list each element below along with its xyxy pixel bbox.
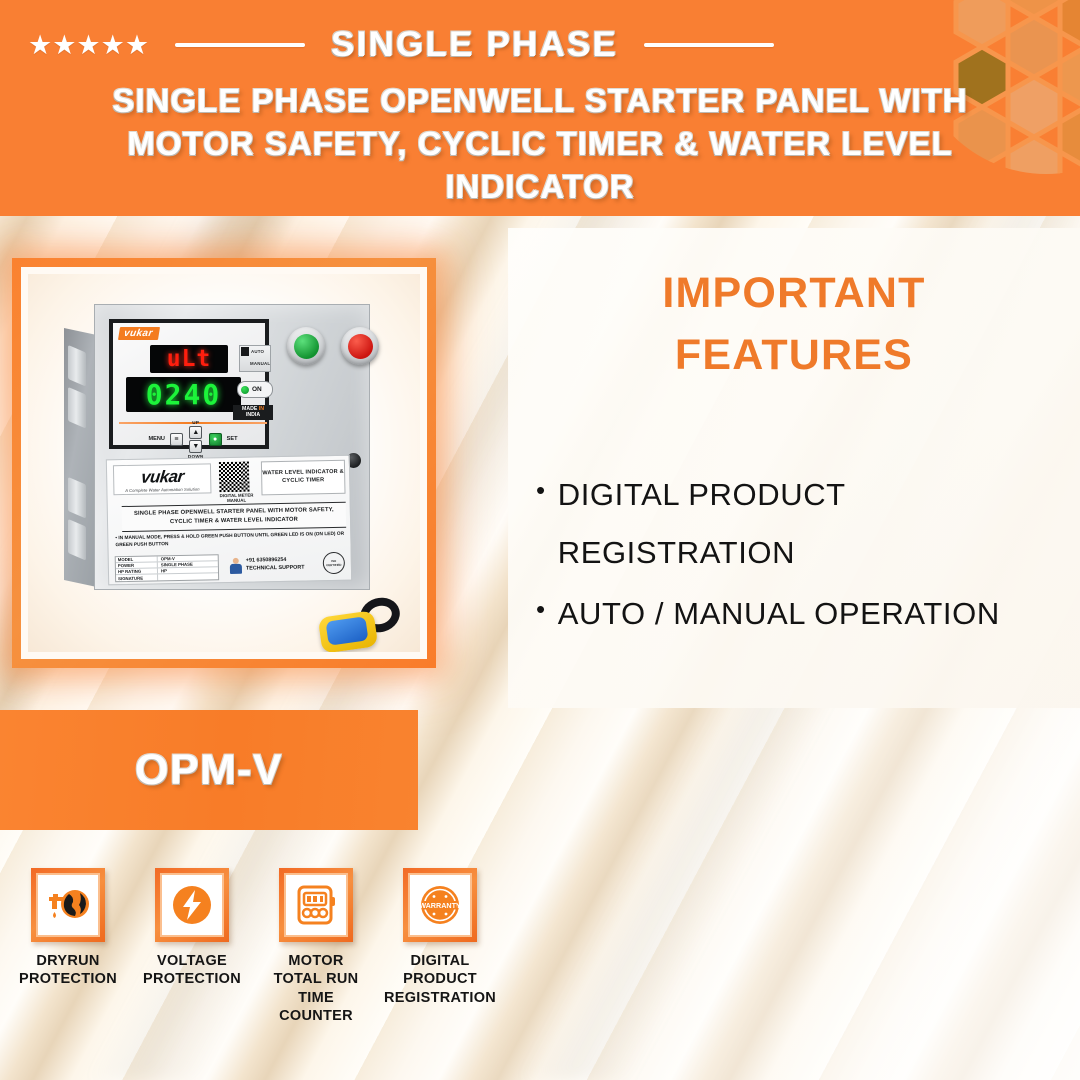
up-down-buttons: UP ▲ ▼ DOWN bbox=[188, 420, 204, 459]
icon-badge bbox=[31, 868, 105, 942]
sticker-spec-table: MODEL OPM-V POWER SINGLE PHASE HP RATING… bbox=[115, 554, 219, 582]
icon-badge-inner bbox=[36, 873, 100, 937]
hinge-icon bbox=[68, 345, 86, 387]
set-label: SET bbox=[227, 436, 238, 442]
led-display-top: uLt bbox=[150, 345, 228, 373]
features-heading: IMPORTANT FEATURES bbox=[520, 262, 1068, 387]
water-level-indicator-badge: WATER LEVEL INDICATOR & CYCLIC TIMER bbox=[261, 460, 346, 496]
green-push-button[interactable] bbox=[287, 327, 325, 365]
product-label-sticker: vukar A Complete Water Automation Soluti… bbox=[106, 455, 352, 586]
feature-text: AUTO / MANUAL OPERATION bbox=[558, 585, 1000, 643]
support-label: TECHNICAL SUPPORT bbox=[246, 565, 305, 574]
on-led-icon bbox=[241, 386, 249, 394]
support-phone-text: +91 6350896254 TECHNICAL SUPPORT bbox=[246, 557, 305, 573]
on-indicator: ON bbox=[237, 381, 273, 398]
auto-label: AUTO bbox=[251, 349, 264, 354]
feature-icon-strip: DRYRUN PROTECTION VOLTAGE PROTECTION bbox=[18, 868, 528, 1048]
list-item: • DIGITAL PRODUCT REGISTRATION bbox=[536, 466, 1056, 583]
qr-code-icon bbox=[219, 462, 250, 493]
meter-controls: MENU ≡ UP ▲ ▼ DOWN ● SET bbox=[117, 427, 269, 451]
red-button-cap bbox=[348, 334, 373, 359]
product-image-frame: vukar uLt 0240 AUTO MANUAL ON MADE bbox=[12, 258, 436, 668]
icon-caption: MOTOR TOTAL RUN TIME COUNTER bbox=[266, 952, 366, 1025]
features-list: • DIGITAL PRODUCT REGISTRATION • AUTO / … bbox=[536, 466, 1056, 645]
table-row: SIGNATURE bbox=[116, 573, 218, 581]
warranty-seal-icon: WARRANTY bbox=[416, 883, 464, 927]
starter-panel-enclosure: vukar uLt 0240 AUTO MANUAL ON MADE bbox=[64, 304, 370, 594]
icon-badge: WARRANTY bbox=[403, 868, 477, 942]
agent-body bbox=[230, 564, 242, 574]
qr-code-label: DIGITAL METER MANUAL bbox=[215, 492, 257, 503]
hinge-icon bbox=[68, 387, 86, 429]
up-button[interactable]: ▲ bbox=[189, 426, 202, 439]
spec-key: MODEL bbox=[116, 556, 158, 562]
header-eyebrow: SINGLE PHASE bbox=[331, 25, 618, 65]
features-heading-line1: IMPORTANT bbox=[520, 262, 1068, 324]
icon-caption: DRYRUN PROTECTION bbox=[18, 952, 118, 989]
enclosure-front-door: vukar uLt 0240 AUTO MANUAL ON MADE bbox=[94, 304, 370, 590]
red-push-button[interactable] bbox=[341, 327, 379, 365]
up-label: UP bbox=[192, 420, 199, 425]
float-switch-sensor-icon bbox=[316, 592, 408, 654]
sticker-brand-block: vukar A Complete Water Automation Soluti… bbox=[113, 463, 212, 495]
header-banner: ★★★★★ SINGLE PHASE SINGLE PHASE OPENWELL… bbox=[0, 0, 1080, 216]
divider-left bbox=[175, 43, 305, 47]
set-button[interactable]: ● bbox=[209, 433, 222, 446]
feature-icon-dryrun: DRYRUN PROTECTION bbox=[18, 868, 118, 989]
icon-badge-inner bbox=[160, 873, 224, 937]
spec-key: HP RATING bbox=[116, 568, 158, 574]
meter-brand-logo: vukar bbox=[118, 327, 160, 340]
model-name: OPM-V bbox=[135, 746, 283, 795]
spec-key: POWER bbox=[116, 562, 158, 568]
bullet-icon: • bbox=[536, 585, 546, 635]
menu-label: MENU bbox=[148, 436, 164, 442]
certification-seal-icon: ISO CERTIFIED bbox=[323, 552, 345, 574]
green-button-cap bbox=[294, 334, 319, 359]
lightning-bolt-icon bbox=[169, 882, 215, 928]
down-button[interactable]: ▼ bbox=[189, 440, 202, 453]
india-label: INDIA bbox=[246, 412, 260, 418]
icon-badge bbox=[155, 868, 229, 942]
hinge-icon bbox=[68, 477, 86, 519]
sticker-instruction-note: • IN MANUAL MODE, PRESS & HOLD GREEN PUS… bbox=[112, 532, 348, 555]
run-time-counter-icon bbox=[292, 882, 340, 928]
tap-globe-icon bbox=[44, 883, 92, 927]
feature-icon-warranty: WARRANTY DIGITAL PRODUCT REGISTRATION bbox=[390, 868, 490, 1007]
spec-value bbox=[158, 573, 218, 580]
icon-caption: VOLTAGE PROTECTION bbox=[142, 952, 242, 989]
made-in-india-badge: MADE IN INDIA bbox=[233, 405, 273, 420]
feature-text: DIGITAL PRODUCT REGISTRATION bbox=[558, 466, 1056, 583]
hinge-icon bbox=[68, 519, 86, 561]
support-agent-icon bbox=[229, 558, 243, 574]
led-display-bottom: 0240 bbox=[126, 377, 241, 412]
sticker-brand-name: vukar bbox=[140, 466, 184, 487]
auto-manual-switch[interactable]: AUTO MANUAL bbox=[239, 345, 271, 372]
svg-text:WARRANTY: WARRANTY bbox=[419, 901, 461, 910]
list-item: • AUTO / MANUAL OPERATION bbox=[536, 585, 1056, 643]
icon-badge-inner: WARRANTY bbox=[408, 873, 472, 937]
icon-badge-inner bbox=[284, 873, 348, 937]
icon-badge bbox=[279, 868, 353, 942]
star-rating-icon: ★★★★★ bbox=[28, 32, 149, 59]
header-headline: SINGLE PHASE OPENWELL STARTER PANEL WITH… bbox=[50, 80, 1030, 209]
sticker-title: SINGLE PHASE OPENWELL STARTER PANEL WITH… bbox=[122, 502, 346, 532]
menu-button[interactable]: ≡ bbox=[170, 433, 183, 446]
manual-label: MANUAL bbox=[250, 361, 270, 366]
feature-icon-runtime: MOTOR TOTAL RUN TIME COUNTER bbox=[266, 868, 366, 1025]
features-heading-line2: FEATURES bbox=[520, 324, 1068, 386]
icon-caption: DIGITAL PRODUCT REGISTRATION bbox=[384, 952, 496, 1007]
product-image: vukar uLt 0240 AUTO MANUAL ON MADE bbox=[21, 267, 427, 659]
spec-key: SIGNATURE bbox=[116, 574, 158, 581]
header-top-row: ★★★★★ SINGLE PHASE bbox=[0, 22, 1080, 68]
support-contact-block: +91 6350896254 TECHNICAL SUPPORT bbox=[229, 552, 333, 578]
on-label: ON bbox=[252, 386, 262, 393]
digital-meter-face: vukar uLt 0240 AUTO MANUAL ON MADE bbox=[109, 319, 269, 449]
model-banner: OPM-V bbox=[0, 710, 418, 830]
enclosure-side bbox=[64, 328, 98, 587]
feature-icon-voltage: VOLTAGE PROTECTION bbox=[142, 868, 242, 989]
divider-right bbox=[644, 43, 774, 47]
bullet-icon: • bbox=[536, 466, 546, 516]
switch-knob-icon bbox=[241, 347, 249, 356]
